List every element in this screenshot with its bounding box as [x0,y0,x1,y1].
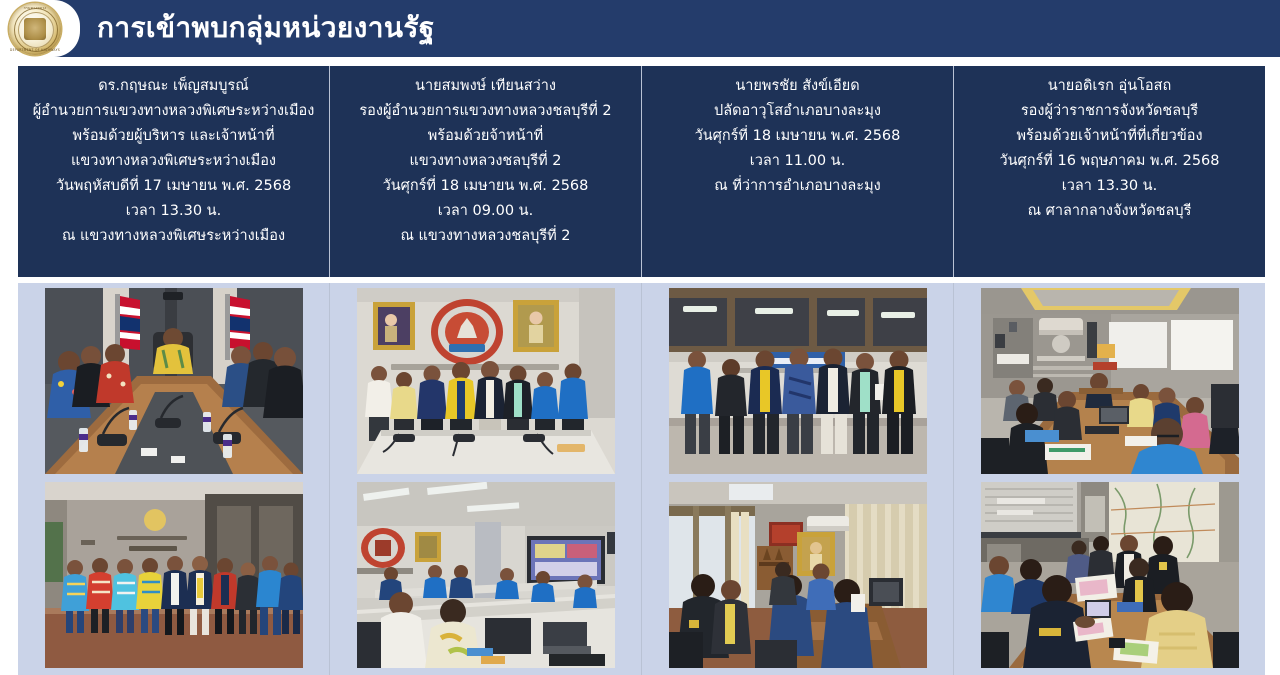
photo-group-outside-building-entrance [45,482,303,668]
caption-line: พร้อมด้วยเจ้าหน้าที่ที่เกี่ยวข้อง [1016,124,1202,149]
seal-crest [24,18,46,40]
caption-column-4: นายอดิเรก อุ่นโอสถ รองผู้ว่าราชการจังหวั… [953,66,1265,277]
caption-line: ดร.กฤษณะ เพ็ญสมบูรณ์ [98,74,249,99]
caption-line: แขวงทางหลวงพิเศษระหว่างเมือง [71,149,276,174]
photo-illustration [357,288,615,474]
caption-line: เวลา 09.00 น. [438,199,533,224]
caption-column-1: ดร.กฤษณะ เพ็ญสมบูรณ์ ผู้อำนวยการแขวงทางห… [18,66,329,277]
photo-illustration [669,288,927,474]
photo-illustration [357,482,615,668]
photo-illustration [669,482,927,668]
photo-column-1 [18,283,329,675]
photo-group-office-lobby-glass-partitions [669,288,927,474]
caption-line: แขวงทางหลวงชลบุรีที่ 2 [409,149,561,174]
caption-line: วันศุกร์ที่ 18 เมษายน พ.ศ. 2568 [695,124,901,149]
photo-conference-room-presentation-screen [357,482,615,668]
caption-line: ปลัดอาวุโสอำเภอบางละมุง [714,99,881,124]
caption-column-2: นายสมพงษ์ เทียนสว่าง รองผู้อำนวยการแขวงท… [329,66,641,277]
caption-line: วันศุกร์ที่ 18 เมษายน พ.ศ. 2568 [383,174,589,199]
seal-text-bottom: DEPARTMENT OF HIGHWAYS [9,48,61,52]
photo-illustration [45,288,303,474]
caption-line: ผู้อำนวยการแขวงทางหลวงพิเศษระหว่างเมือง [33,99,315,124]
photo-column-3 [641,283,953,675]
caption-line: รองผู้ว่าราชการจังหวัดชลบุรี [1021,99,1198,124]
page-title: การเข้าพบกลุ่มหน่วยงานรัฐ [97,8,435,48]
caption-line: เวลา 13.30 น. [1062,174,1157,199]
caption-line: นายสมพงษ์ เทียนสว่าง [415,74,556,99]
photo-illustration [981,482,1239,668]
photo-group-royal-portraits-highway-seal [357,288,615,474]
photo-column-4 [953,283,1265,675]
caption-line: ณ แขวงทางหลวงชลบุรีที่ 2 [400,224,570,249]
caption-line: พร้อมด้วยจ้าหน้าที่ [428,124,543,149]
caption-column-3: นายพรชัย สังข์เอียด ปลัดอาวุโสอำเภอบางละ… [641,66,953,277]
photo-office-meeting-window-blinds-royal-portrait [669,482,927,668]
logo-plate: กรมทางหลวง DEPARTMENT OF HIGHWAYS [0,0,80,57]
photo-grid [18,283,1265,675]
department-of-highways-seal-icon: กรมทางหลวง DEPARTMENT OF HIGHWAYS [9,3,61,55]
caption-line: ณ แขวงทางหลวงพิเศษระหว่างเมือง [62,224,285,249]
photo-meeting-room-wooden-table-laptop [981,288,1239,474]
photo-column-2 [329,283,641,675]
slide-header: กรมทางหลวง DEPARTMENT OF HIGHWAYS การเข้… [0,0,1280,57]
caption-line: เวลา 13.30 น. [126,199,221,224]
caption-line: นายพรชัย สังข์เอียด [735,74,859,99]
photo-meeting-room-conference-table-thai-flags [45,288,303,474]
caption-line: เวลา 11.00 น. [750,149,845,174]
presentation-slide: กรมทางหลวง DEPARTMENT OF HIGHWAYS การเข้… [0,0,1280,675]
caption-line: ณ ที่ว่าการอำเภอบางละมุง [714,174,880,199]
photo-illustration [45,482,303,668]
caption-line: นายอดิเรก อุ่นโอสถ [1048,74,1172,99]
caption-line: วันศุกร์ที่ 16 พฤษภาคม พ.ศ. 2568 [999,149,1219,174]
caption-line: พร้อมด้วยผู้บริหาร และเจ้าหน้าที่ [72,124,274,149]
caption-line: รองผู้อำนวยการแขวงทางหลวงชลบุรีที่ 2 [359,99,611,124]
caption-line: วันพฤหัสบดีที่ 17 เมษายน พ.ศ. 2568 [56,174,291,199]
photo-meeting-room-wall-map-discussion [981,482,1239,668]
caption-line: ณ ศาลากลางจังหวัดชลบุรี [1028,199,1192,224]
caption-panel: ดร.กฤษณะ เพ็ญสมบูรณ์ ผู้อำนวยการแขวงทางห… [18,66,1265,277]
seal-text-top: กรมทางหลวง [9,6,61,11]
photo-illustration [981,288,1239,474]
